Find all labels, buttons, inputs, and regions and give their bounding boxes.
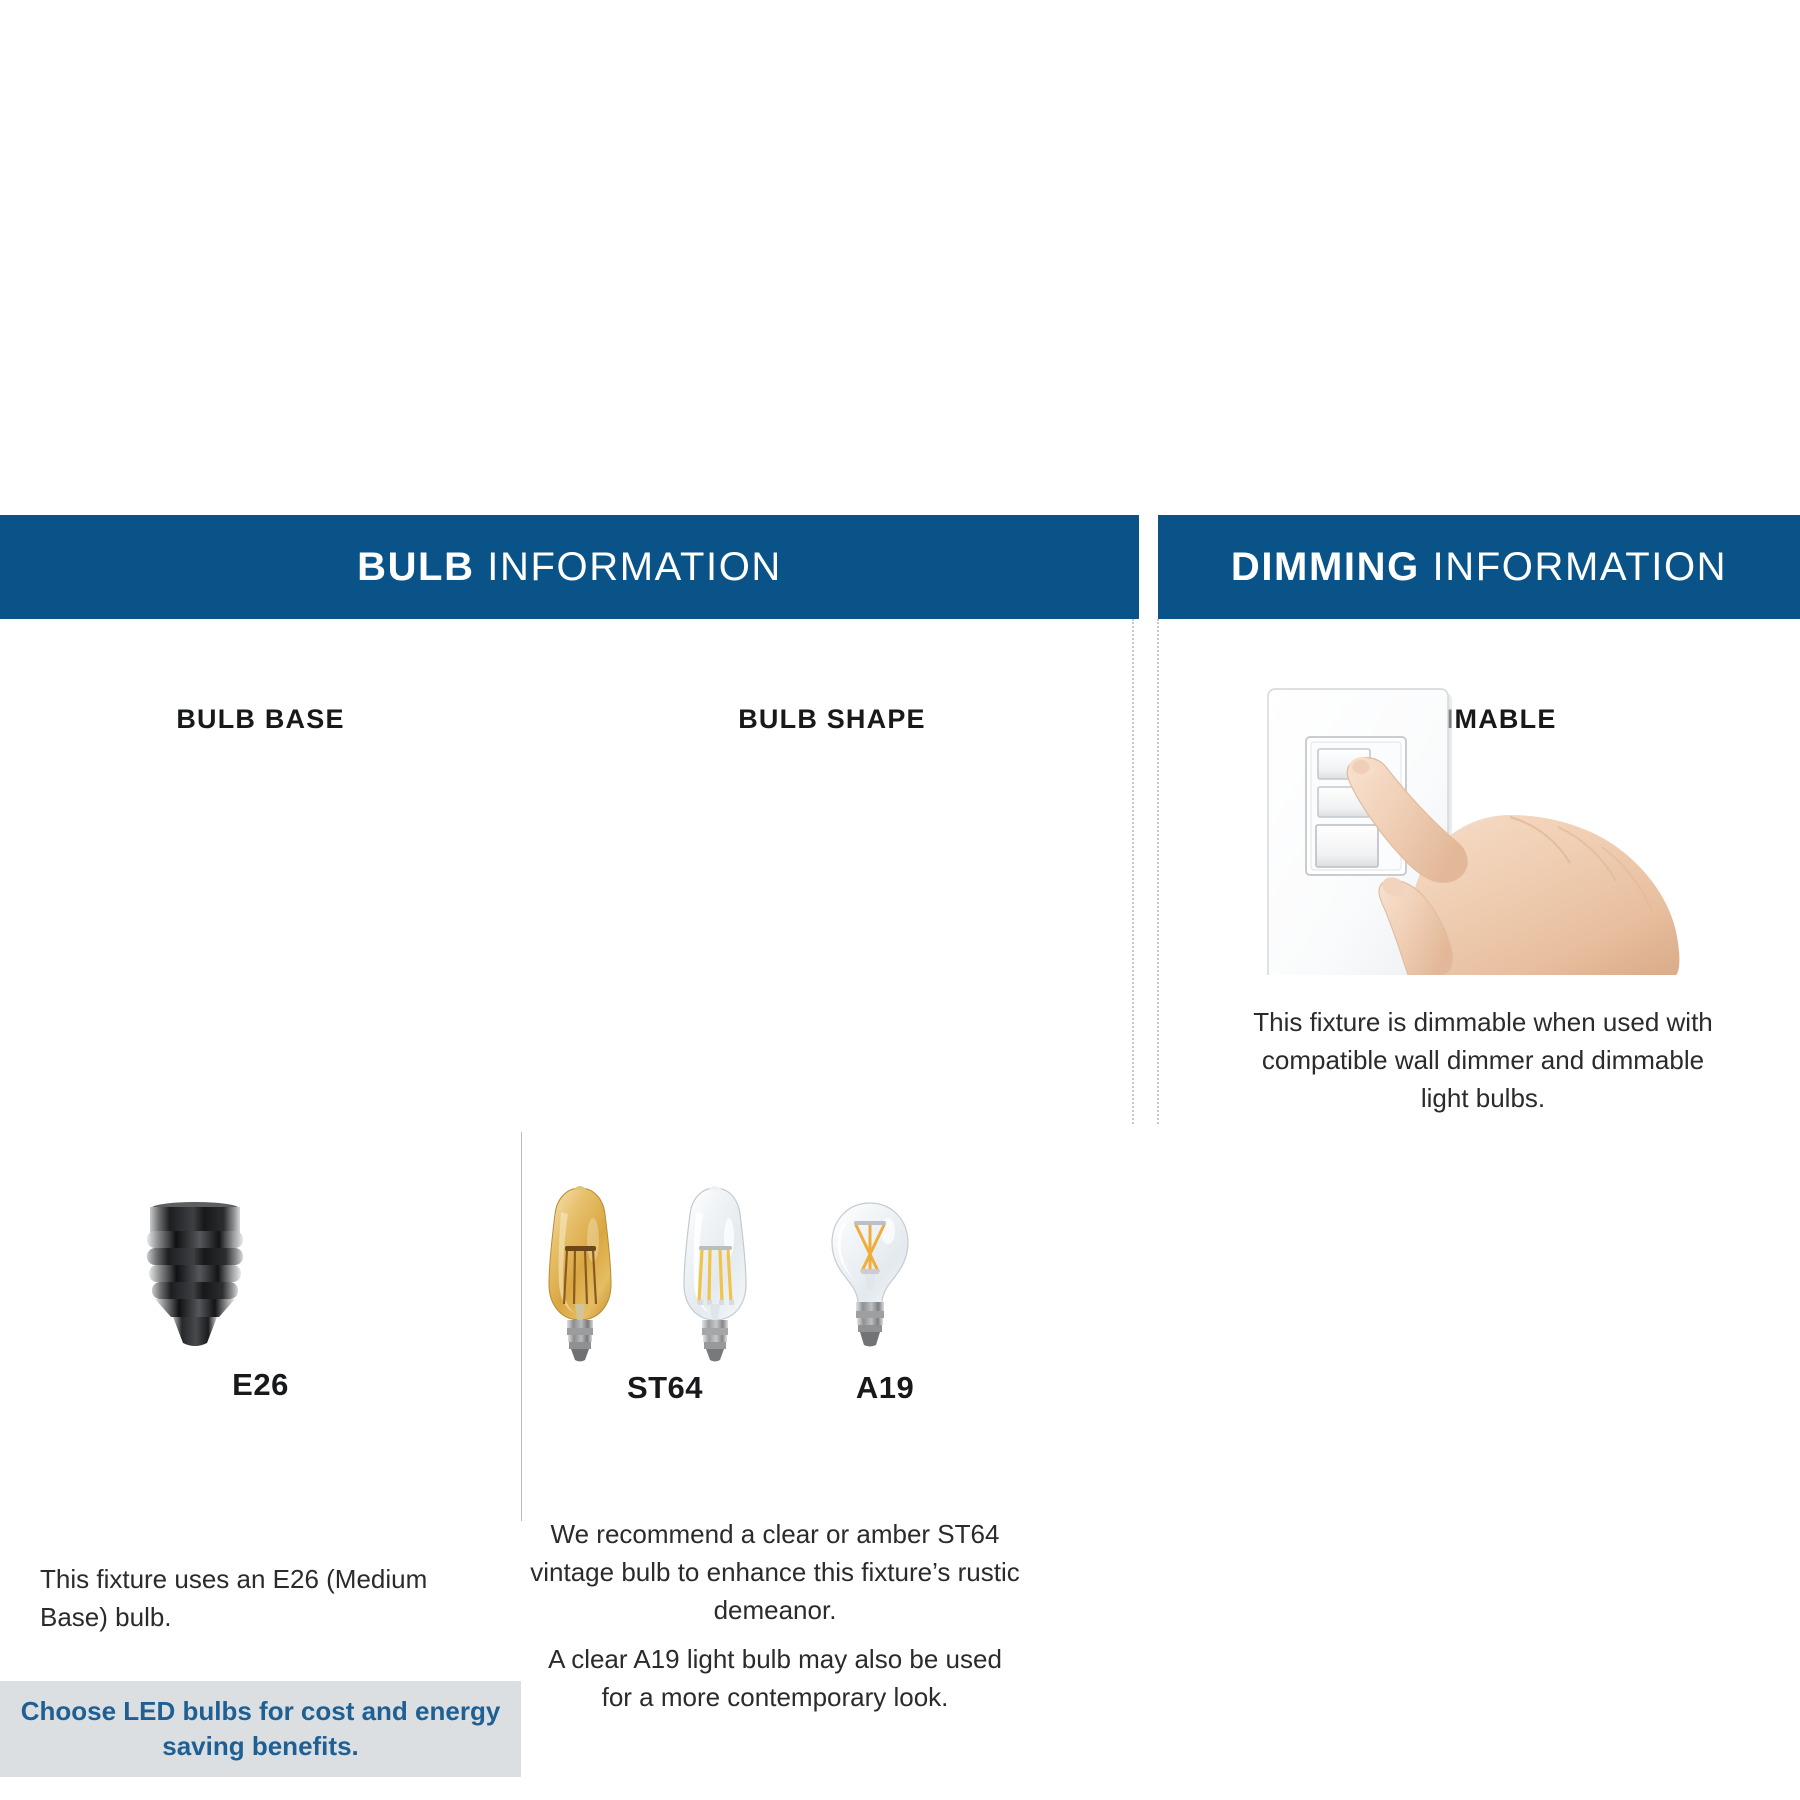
column-divider <box>521 1132 522 1521</box>
dimming-information-title: DIMMING INFORMATION <box>1231 545 1727 590</box>
e26-screw-base-icon <box>135 1191 255 1361</box>
spec-sheet: BULB INFORMATION BULB BASE <box>0 0 1800 1800</box>
bulb-shape-paragraph-2: A clear A19 light bulb may also be used … <box>530 1640 1020 1716</box>
dimming-information-title-strong: DIMMING <box>1231 545 1420 589</box>
bulb-information-header: BULB INFORMATION <box>0 515 1139 619</box>
bulb-shape-paragraph-1: We recommend a clear or amber ST64 vinta… <box>530 1515 1020 1629</box>
panel-dotted-divider-left <box>1132 619 1134 1124</box>
dimming-information-panel: DIMMING INFORMATION DIMMABLE <box>1158 515 1800 1135</box>
amber-st64-bulb-icon <box>525 1180 635 1375</box>
bulb-label-a19: A19 <box>805 1370 965 1406</box>
bulb-information-title-light: INFORMATION <box>487 545 782 589</box>
led-callout-box: Choose LED bulbs for cost and energy sav… <box>0 1681 521 1777</box>
bulb-base-paragraph: This fixture uses an E26 (Medium Base) b… <box>40 1560 480 1636</box>
bulb-shape-column: BULB SHAPE <box>525 619 1139 735</box>
led-callout-text: Choose LED bulbs for cost and energy sav… <box>0 1694 521 1764</box>
dimmable-paragraph: This fixture is dimmable when used with … <box>1243 1003 1723 1117</box>
bulb-shape-figures <box>525 1185 1139 1375</box>
dimming-information-title-light: INFORMATION <box>1433 545 1728 589</box>
wall-dimmer-switch-with-hand-icon <box>1258 675 1728 975</box>
bulb-shape-labels: ST64 A19 <box>525 1370 1139 1416</box>
bulb-shape-heading: BULB SHAPE <box>525 704 1139 735</box>
bulb-base-type-label: E26 <box>0 1367 521 1403</box>
clear-a19-bulb-icon <box>820 1195 920 1375</box>
bulb-information-title: BULB INFORMATION <box>357 545 782 590</box>
bulb-label-st64: ST64 <box>575 1370 755 1406</box>
bulb-base-heading: BULB BASE <box>0 704 521 735</box>
clear-st64-bulb-icon <box>660 1180 770 1375</box>
dimming-information-header: DIMMING INFORMATION <box>1158 515 1800 619</box>
bulb-information-panel: BULB INFORMATION BULB BASE <box>0 515 1139 1135</box>
bulb-information-title-strong: BULB <box>357 545 475 589</box>
bulb-base-column: BULB BASE <box>0 619 521 735</box>
